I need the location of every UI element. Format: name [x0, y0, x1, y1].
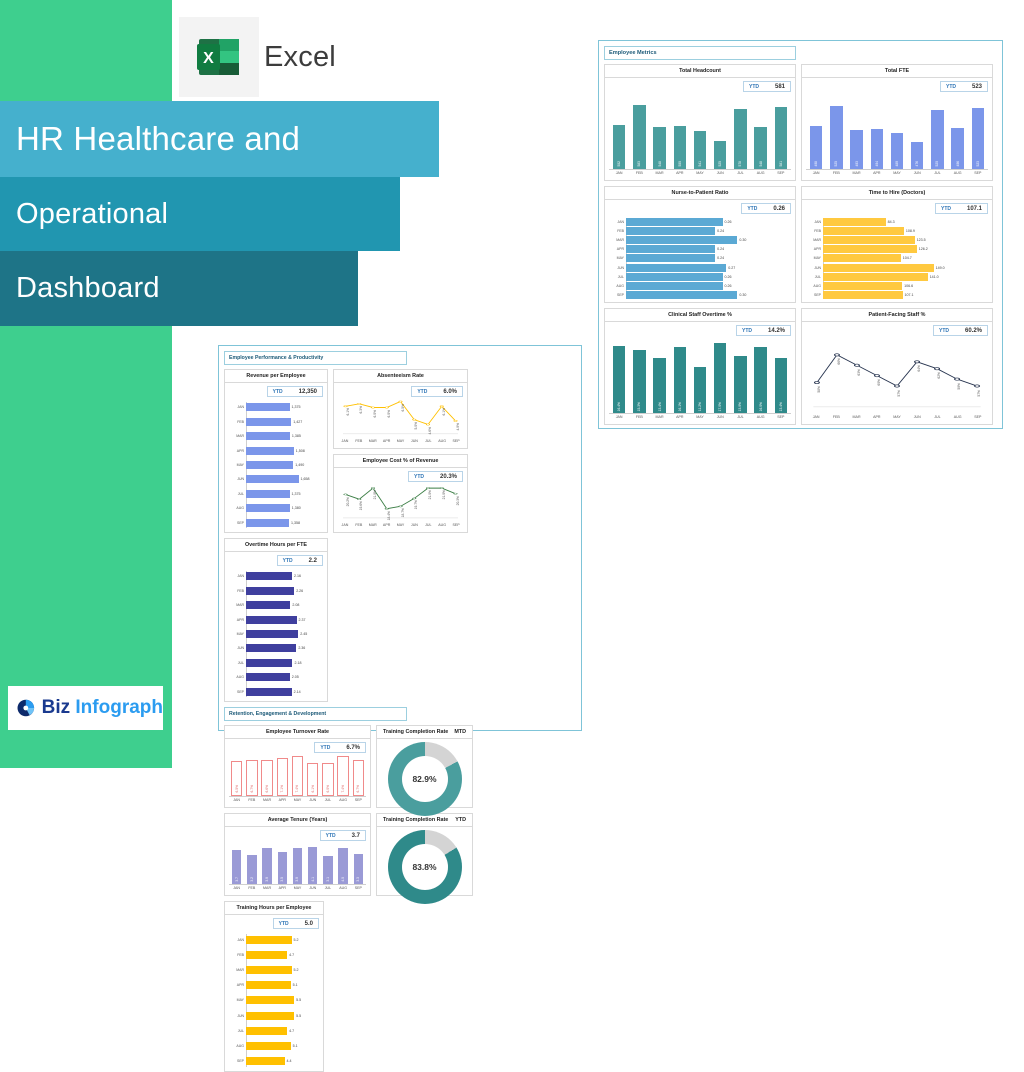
card-body: YTD 0.26 JAN 0.26 FEB 0.24 MAR 0.30 APR … — [605, 200, 795, 302]
bar-column: 489 — [887, 95, 907, 169]
bar-column: 493 — [846, 95, 866, 169]
bar-row: APR 2.37 — [246, 616, 323, 624]
bar: 3.7 — [232, 850, 241, 884]
bar — [823, 254, 901, 262]
bar-row: AUG 106.6 — [823, 282, 988, 290]
bar-value-label: 552 — [617, 161, 621, 167]
title-line-3-text: Dashboard — [0, 272, 160, 305]
point-value-label: 57% — [977, 390, 981, 397]
donut-center-label: 83.8% — [402, 844, 448, 890]
point-value-label: 4.9% — [456, 423, 460, 431]
bar-row: APR 0.24 — [626, 245, 791, 253]
bar-column: 16.4% — [609, 339, 629, 413]
bar-value-label: 520 — [935, 161, 939, 167]
bar-column: 498 — [806, 95, 826, 169]
axis-tick-label: JUN — [907, 170, 927, 175]
x-axis: JANFEBMARAPRMAYJUNJULAUGSEP — [806, 170, 988, 175]
bar: 3.1 — [323, 856, 332, 884]
bar-value-label: 13.4% — [779, 402, 783, 411]
bar — [823, 227, 904, 235]
bar-value-label: 5.2 — [294, 968, 299, 972]
bar — [823, 273, 928, 281]
bar-value-label: 2.18 — [294, 661, 301, 665]
bar: 3.2 — [247, 855, 256, 884]
bar-value-label: 493 — [855, 161, 859, 167]
bar-column: 494 — [867, 95, 887, 169]
bar: 6.6% — [261, 760, 272, 796]
bar-row: JUN 2.36 — [246, 644, 323, 652]
axis-tick-label: MAR — [259, 797, 274, 802]
bar-row: JUN 1,658 — [246, 475, 323, 483]
kpi-badge: YTD 581 — [743, 81, 791, 92]
card-title: Nurse-to-Patient Ratio — [672, 190, 729, 196]
bar: 548 — [653, 127, 666, 169]
axis-tick-label: APR — [670, 414, 690, 419]
axis-tick-label: JUL — [730, 170, 750, 175]
bar — [626, 236, 737, 244]
donut-chart: 83.8% — [388, 830, 462, 904]
axis-tick-label: MAY — [807, 256, 821, 260]
kpi-label: YTD — [941, 84, 960, 90]
axis-tick-label: AUG — [435, 438, 449, 443]
axis-tick-label: APR — [807, 247, 821, 251]
x-axis: JANFEBMARAPRMAYJUNJULAUGSEP — [609, 170, 791, 175]
kpi-value: 3.7 — [340, 833, 365, 839]
kpi-badge: YTD 5.0 — [273, 918, 319, 929]
card-title: Patient-Facing Staff % — [869, 312, 926, 318]
chart-card-total-headcount: Total Headcount YTD 581 552 583 548 550 … — [604, 64, 796, 181]
plot-area: JAN 0.26 FEB 0.24 MAR 0.30 APR 0.24 MAY … — [609, 217, 791, 300]
bar: 13.4% — [653, 358, 666, 413]
axis-tick-label: APR — [230, 449, 244, 453]
axis-tick-label: JUL — [927, 170, 947, 175]
bar-column: 6.6% — [259, 755, 274, 796]
bar — [246, 659, 292, 667]
bar-row: JUL 141.0 — [823, 273, 988, 281]
bar: 7.4% — [292, 756, 303, 796]
bar-column: 583 — [629, 95, 649, 169]
bar: 550 — [674, 126, 687, 169]
plot-area: 83.8% — [381, 830, 468, 904]
axis-tick-label: AUG — [336, 797, 351, 802]
title-line-1: HR Healthcare and — [0, 101, 439, 177]
bar-value-label: 541 — [698, 161, 702, 167]
card-header: Total Headcount — [605, 65, 795, 78]
bar: 6.0% — [322, 763, 333, 796]
card-body: YTD 107.1 JAN 84.3 FEB 108.9 MAR 123.5 A… — [802, 200, 992, 302]
chart-card-revenue-per-employee: Revenue per Employee YTD 12,350 JAN 1,37… — [224, 369, 328, 533]
card-body: YTD 12,350 JAN 1,375 FEB 1,427 MAR 1,385… — [225, 383, 327, 532]
bar-row: MAR 5.2 — [246, 966, 319, 974]
kpi-value: 6.7% — [334, 745, 365, 751]
point-value-label: 64% — [917, 365, 921, 372]
section-title-performance: Employee Performance & Productivity — [224, 351, 407, 365]
axis-tick-label: MAY — [230, 998, 244, 1002]
bar-value-label: 3.2 — [250, 877, 254, 882]
bar-value-label: 498 — [814, 161, 818, 167]
bar: 578 — [734, 109, 747, 169]
excel-icon: X — [179, 17, 259, 97]
axis-tick-label: APR — [275, 797, 290, 802]
card-header: Patient-Facing Staff % — [802, 309, 992, 322]
bar-row: MAR 123.5 — [823, 236, 988, 244]
x-axis: JANFEBMARAPRMAYJUNJULAUGSEP — [229, 797, 366, 802]
axis-tick-label: MAY — [690, 170, 710, 175]
bar — [246, 447, 294, 455]
card-header: Time to Hire (Doctors) — [802, 187, 992, 200]
chart-card-training-completion-rate-mtd: Training Completion Rate MTD 82.9% — [376, 725, 473, 808]
axis-tick-label: JAN — [807, 220, 821, 224]
point-value-label: 66% — [837, 358, 841, 365]
bar: 494 — [871, 129, 884, 169]
bar-row: JAN 5.2 — [246, 936, 319, 944]
bar-value-label: 1,375 — [292, 405, 301, 409]
bar-value-label: 1,375 — [292, 492, 301, 496]
bar-value-label: 106.6 — [904, 284, 913, 288]
bar — [823, 291, 903, 299]
bar: 13.9% — [734, 356, 747, 413]
bar-value-label: 2.26 — [296, 589, 303, 593]
axis-tick-label: JUL — [610, 275, 624, 279]
axis-tick-label: AUG — [807, 284, 821, 288]
bar-value-label: 2.37 — [299, 618, 306, 622]
bar-value-label: 126.2 — [919, 247, 928, 251]
axis-tick-label: JUN — [610, 266, 624, 270]
performance-retention-dashboard: Employee Performance & Productivity Reve… — [218, 345, 582, 731]
kpi-value: 6.0% — [431, 389, 462, 395]
logo-word-infograph: Infograph — [75, 697, 163, 718]
bar: 523 — [972, 108, 985, 169]
axis-tick-label: MAR — [846, 170, 866, 175]
bar-value-label: 494 — [875, 161, 879, 167]
bar — [823, 218, 886, 226]
kpi-badge: YTD 6.7% — [314, 742, 366, 753]
bar-column: 15.3% — [629, 339, 649, 413]
card-body: YTD 6.0% 6.1%6.3%6.0%6.0%6.5%5.0%4.6%6.1… — [334, 383, 467, 448]
bar: 17.0% — [714, 343, 727, 413]
bar-row: JUL 4.7 — [246, 1027, 319, 1035]
plot-area: 16.4% 15.3% 13.4% 16.1% 11.2% 17.0% — [609, 339, 791, 414]
bar-value-label: 3.9 — [295, 877, 299, 882]
bar — [246, 461, 293, 469]
axis-tick-label: MAR — [649, 170, 669, 175]
bar — [823, 245, 917, 253]
bar-row: FEB 4.7 — [246, 951, 319, 959]
bar-value-label: 2.36 — [298, 646, 305, 650]
kpi-value: 5.0 — [293, 921, 318, 927]
axis-tick-label: JAN — [610, 220, 624, 224]
bar: 476 — [911, 142, 924, 169]
bar-column: 7.1% — [275, 755, 290, 796]
bar: 6.7% — [246, 760, 257, 796]
kpi-badge: YTD 107.1 — [935, 203, 988, 214]
bar: 520 — [931, 110, 944, 169]
kpi-badge: YTD 0.26 — [741, 203, 791, 214]
card-header: Training Completion Rate MTD — [377, 726, 472, 739]
bar-row: SEP 4.4 — [246, 1057, 319, 1065]
title-line-2: Operational — [0, 177, 400, 251]
bar-value-label: 0.24 — [717, 247, 724, 251]
axis-tick-label: MAR — [230, 603, 244, 607]
bar-row: MAR 0.30 — [626, 236, 791, 244]
bar-column: 6.5% — [229, 755, 244, 796]
pie-chart-icon — [16, 695, 36, 721]
bar — [246, 504, 290, 512]
bar-value-label: 2.08 — [292, 603, 299, 607]
axis-tick-label: MAR — [366, 438, 380, 443]
point-value-label: 21.0% — [373, 490, 377, 499]
bar: 525 — [714, 141, 727, 169]
card-title: Employee Turnover Rate — [266, 729, 329, 735]
axis-tick-label: SEP — [610, 293, 624, 297]
bar-column: 3.3 — [351, 843, 366, 884]
bar-value-label: 7.4% — [295, 785, 299, 793]
bar-row: SEP 2.14 — [246, 688, 323, 696]
bar-value-label: 5.5 — [296, 1014, 301, 1018]
bar — [246, 644, 296, 652]
axis-tick-label: MAY — [610, 256, 624, 260]
bar: 6.7% — [353, 760, 364, 796]
bar-value-label: 108.9 — [906, 229, 915, 233]
bar: 489 — [891, 133, 904, 169]
card-header: Training Hours per Employee — [225, 902, 323, 915]
kpi-badge: YTD 60.2% — [933, 325, 988, 336]
axis-tick-label: MAY — [290, 885, 305, 890]
performance-card-grid: Revenue per Employee YTD 12,350 JAN 1,37… — [224, 369, 576, 702]
bar-value-label: 5.2 — [294, 938, 299, 942]
bar-row: FEB 1,427 — [246, 418, 323, 426]
bar — [246, 475, 299, 483]
bar: 3.9 — [293, 848, 302, 884]
bar-value-label: 4.4 — [287, 1059, 292, 1063]
bar-row: MAY 5.5 — [246, 996, 319, 1004]
kpi-label: YTD — [321, 833, 340, 839]
bar-value-label: 0.24 — [717, 256, 724, 260]
card-header: Clinical Staff Overtime % — [605, 309, 795, 322]
section-title-retention: Retention, Engagement & Development — [224, 707, 407, 721]
bar-column: 548 — [751, 95, 771, 169]
chart-card-clinical-staff-overtime: Clinical Staff Overtime % YTD 14.2% 16.4… — [604, 308, 796, 425]
axis-tick-label: MAY — [394, 522, 408, 527]
plot-area: JAN 5.2 FEB 4.7 MAR 5.2 APR 5.1 MAY 5.5 … — [229, 932, 319, 1069]
kpi-badge: YTD 523 — [940, 81, 988, 92]
chart-card-patient-facing-staff: Patient-Facing Staff % YTD 60.2% 58%66%6… — [801, 308, 993, 425]
bar — [246, 616, 297, 624]
point-value-label: 21.0% — [442, 490, 446, 499]
bar-value-label: 0.24 — [717, 229, 724, 233]
axis-tick-label: JUN — [305, 885, 320, 890]
bar: 11.2% — [694, 367, 707, 413]
kpi-label: YTD — [278, 558, 297, 564]
plot-area: JAN 2.16 FEB 2.26 MAR 2.08 APR 2.37 MAY … — [229, 569, 323, 699]
axis-tick-label: JUN — [230, 1014, 244, 1018]
axis-tick-label: AUG — [948, 414, 968, 419]
bar — [246, 490, 290, 498]
bar: 498 — [810, 126, 823, 169]
bar-value-label: 4.7 — [289, 1029, 294, 1033]
bar-row: JAN 2.16 — [246, 572, 323, 580]
kpi-label: YTD — [412, 389, 431, 395]
bar-value-label: 2.16 — [294, 574, 301, 578]
bar-row: MAY 104.7 — [823, 254, 988, 262]
axis-tick-label: SEP — [230, 521, 244, 525]
axis-tick-label: AUG — [230, 506, 244, 510]
kpi-value: 20.3% — [428, 474, 462, 480]
axis-tick-label: FEB — [629, 414, 649, 419]
plot-area: 82.9% — [381, 742, 468, 816]
axis-tick-label: JUL — [927, 414, 947, 419]
biz-infograph-logo: Biz Infograph — [8, 686, 163, 730]
bar: 583 — [633, 105, 646, 169]
bar-value-label: 13.9% — [738, 402, 742, 411]
bar-column: 7.4% — [290, 755, 305, 796]
chart-card-nurse-to-patient-ratio: Nurse-to-Patient Ratio YTD 0.26 JAN 0.26… — [604, 186, 796, 303]
axis-tick-label: JUL — [730, 414, 750, 419]
point-value-label: 6.1% — [442, 408, 446, 416]
card-body: 82.9% — [377, 739, 472, 818]
bar — [626, 218, 723, 226]
card-header: Average Tenure (Years) — [225, 814, 370, 827]
bar-column: 520 — [927, 95, 947, 169]
kpi-label: YTD — [409, 474, 428, 480]
axis-tick-label: APR — [670, 170, 690, 175]
bar — [626, 291, 737, 299]
bar-value-label: 548 — [658, 161, 662, 167]
axis-tick-label: MAY — [690, 414, 710, 419]
point-value-label: 5.0% — [414, 422, 418, 430]
kpi-label: YTD — [315, 745, 334, 751]
card-header: Total FTE — [802, 65, 992, 78]
title-line-3: Dashboard — [0, 251, 358, 326]
point-value-label: 63% — [857, 369, 861, 376]
bar-row: JUL 2.18 — [246, 659, 323, 667]
bar-value-label: 4.7 — [289, 953, 294, 957]
plot-area: 552 583 548 550 541 525 578 — [609, 95, 791, 170]
point-value-label: 19.6% — [359, 501, 363, 510]
card-body: 83.8% — [377, 827, 472, 906]
kpi-value: 14.2% — [756, 328, 790, 334]
bar-value-label: 2.05 — [292, 675, 299, 679]
axis-tick-label: MAY — [230, 463, 244, 467]
bar-value-label: 16.4% — [617, 402, 621, 411]
card-header: Employee Turnover Rate — [225, 726, 370, 739]
axis-tick-label: JAN — [338, 438, 352, 443]
point-value-label: 21.0% — [428, 490, 432, 499]
axis-tick-label: JAN — [230, 405, 244, 409]
bar-row: MAY 0.24 — [626, 254, 791, 262]
bar-row: FEB 108.9 — [823, 227, 988, 235]
axis-tick-label: APR — [230, 983, 244, 987]
bar-value-label: 3.1 — [326, 877, 330, 882]
card-body: YTD 5.0 JAN 5.2 FEB 4.7 MAR 5.2 APR 5.1 … — [225, 915, 323, 1071]
bar-row: SEP 107.1 — [823, 291, 988, 299]
card-header: Employee Cost % of Revenue — [334, 455, 467, 468]
point-value-label: 62% — [937, 372, 941, 379]
bar-value-label: 1,380 — [292, 506, 301, 510]
card-period: MTD — [454, 729, 466, 735]
bar-value-label: 523 — [976, 161, 980, 167]
axis-tick-label: MAY — [290, 797, 305, 802]
axis-tick-label: FEB — [629, 170, 649, 175]
bar-value-label: 84.3 — [888, 220, 895, 224]
bar — [246, 601, 290, 609]
axis-tick-label: SEP — [449, 438, 463, 443]
bar-row: AUG 1,380 — [246, 504, 323, 512]
bar-column: 17.0% — [710, 339, 730, 413]
bar-value-label: 3.9 — [265, 877, 269, 882]
bar-column: 11.2% — [690, 339, 710, 413]
axis-tick-label: AUG — [751, 414, 771, 419]
axis-tick-label: JAN — [338, 522, 352, 527]
plot-area: JAN 84.3 FEB 108.9 MAR 123.5 APR 126.2 M… — [806, 217, 988, 300]
point-value-label: 6.0% — [373, 410, 377, 418]
bar: 7.1% — [277, 758, 288, 796]
bar: 15.3% — [633, 350, 646, 413]
plot-area: 6.5% 6.7% 6.6% 7.1% 7.4% 6.1% 6. — [229, 755, 366, 797]
axis-tick-label: SEP — [449, 522, 463, 527]
logo-wordmark: Biz Infograph — [42, 697, 163, 719]
card-title: Clinical Staff Overtime % — [668, 312, 732, 318]
bar — [246, 630, 298, 638]
axis-tick-label: FEB — [610, 229, 624, 233]
bar — [246, 688, 292, 696]
bar: 6.5% — [231, 761, 242, 796]
bar-value-label: 1,427 — [293, 420, 302, 424]
bar-value-label: 1,385 — [292, 434, 301, 438]
bar-column: 581 — [771, 95, 791, 169]
axis-tick-label: JAN — [806, 414, 826, 419]
bar-value-label: 5.5 — [296, 998, 301, 1002]
bar — [246, 519, 289, 527]
bar-value-label: 550 — [678, 161, 682, 167]
bar-value-label: 5.1 — [293, 983, 298, 987]
point-value-label: 6.0% — [387, 410, 391, 418]
bar-row: JUN 149.0 — [823, 264, 988, 272]
axis-tick-label: FEB — [230, 589, 244, 593]
bar-column: 4.0 — [336, 843, 351, 884]
bar-value-label: 7.1% — [280, 785, 284, 793]
bar-value-label: 149.0 — [936, 266, 945, 270]
chart-card-overtime-hours-per-fte: Overtime Hours per FTE YTD 2.2 JAN 2.16 … — [224, 538, 328, 702]
axis-tick-label: MAR — [230, 968, 244, 972]
card-body: YTD 14.2% 16.4% 15.3% 13.4% 16.1% 11.2% — [605, 322, 795, 424]
bar-value-label: 489 — [895, 161, 899, 167]
bar — [246, 418, 291, 426]
bar-value-label: 16.1% — [678, 402, 682, 411]
point-value-label: 59% — [957, 383, 961, 390]
card-header: Nurse-to-Patient Ratio — [605, 187, 795, 200]
bar-row: FEB 0.24 — [626, 227, 791, 235]
point-value-label: 57% — [897, 390, 901, 397]
kpi-value: 2.2 — [297, 558, 322, 564]
bar-value-label: 6.7% — [356, 785, 360, 793]
axis-tick-label: JAN — [609, 414, 629, 419]
kpi-value: 107.1 — [955, 206, 987, 212]
axis-tick-label: SEP — [230, 1059, 244, 1063]
axis-tick-label: JAN — [230, 574, 244, 578]
bar-value-label: 6.5% — [235, 785, 239, 793]
axis-tick-label: JAN — [806, 170, 826, 175]
bar-value-label: 5.1 — [293, 1044, 298, 1048]
retention-card-grid: Employee Turnover Rate YTD 6.7% 6.5% 6.7… — [224, 725, 576, 1072]
bar-value-label: 1,358 — [291, 521, 300, 525]
bar — [626, 273, 723, 281]
axis-tick-label: AUG — [336, 885, 351, 890]
bar-column: 548 — [649, 95, 669, 169]
bar-column: 552 — [609, 95, 629, 169]
axis-tick-label: JAN — [229, 885, 244, 890]
kpi-label: YTD — [268, 389, 287, 395]
